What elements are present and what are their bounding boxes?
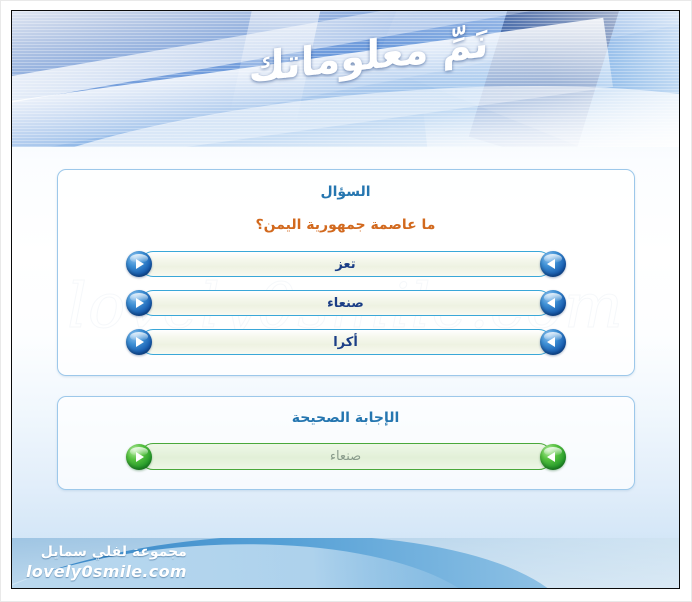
options-list: تعز صنعاء xyxy=(58,251,634,355)
answer-bar[interactable]: صنعاء xyxy=(140,443,552,470)
option-row[interactable]: أكرا xyxy=(126,329,566,355)
correct-answer-row[interactable]: صنعاء xyxy=(126,443,566,470)
banner-swoosh-6 xyxy=(469,11,622,147)
page-frame: نَمِّ معلوماتك lovely0smile.com السؤال م… xyxy=(0,0,692,602)
header-banner: نَمِّ معلوماتك xyxy=(12,11,679,147)
triangle-left-glyph xyxy=(547,337,555,347)
option-label: أكرا xyxy=(333,335,358,350)
triangle-right-glyph xyxy=(136,259,144,269)
answer-panel-title: الإجابة الصحيحة xyxy=(58,410,634,426)
triangle-left-glyph xyxy=(547,298,555,308)
option-row[interactable]: صنعاء xyxy=(126,290,566,316)
question-text: ما عاصمة جمهورية اليمن؟ xyxy=(58,217,634,233)
footer-text-block: مجموعة لفلي سمايل lovely0smile.com xyxy=(26,543,187,582)
play-right-icon[interactable] xyxy=(126,329,152,355)
option-row[interactable]: تعز xyxy=(126,251,566,277)
option-bar[interactable]: أكرا xyxy=(140,329,552,355)
triangle-right-glyph xyxy=(136,337,144,347)
content-area: lovely0smile.com السؤال ما عاصمة جمهورية… xyxy=(12,147,679,538)
option-label: تعز xyxy=(335,257,355,272)
play-left-icon[interactable] xyxy=(540,444,566,470)
answer-label: صنعاء xyxy=(330,449,361,464)
option-bar[interactable]: صنعاء xyxy=(140,290,552,316)
quiz-card: نَمِّ معلوماتك lovely0smile.com السؤال م… xyxy=(11,10,680,589)
play-left-icon[interactable] xyxy=(540,290,566,316)
question-panel-title: السؤال xyxy=(58,184,634,200)
footer-url[interactable]: lovely0smile.com xyxy=(26,562,187,582)
option-bar[interactable]: تعز xyxy=(140,251,552,277)
triangle-left-glyph xyxy=(547,452,555,462)
play-right-icon[interactable] xyxy=(126,251,152,277)
play-left-icon[interactable] xyxy=(540,329,566,355)
question-panel: السؤال ما عاصمة جمهورية اليمن؟ تعز xyxy=(57,169,635,376)
banner-title: نَمِّ معلوماتك xyxy=(249,20,489,91)
banner-swoosh-7 xyxy=(423,83,679,147)
play-right-icon[interactable] xyxy=(126,290,152,316)
triangle-left-glyph xyxy=(547,259,555,269)
footer-group-name: مجموعة لفلي سمايل xyxy=(26,543,187,562)
answer-panel: الإجابة الصحيحة صنعاء xyxy=(57,396,635,490)
footer-banner: مجموعة لفلي سمايل lovely0smile.com xyxy=(12,538,679,588)
triangle-right-glyph xyxy=(136,452,144,462)
triangle-right-glyph xyxy=(136,298,144,308)
play-right-icon[interactable] xyxy=(126,444,152,470)
play-left-icon[interactable] xyxy=(540,251,566,277)
option-label: صنعاء xyxy=(327,296,364,311)
